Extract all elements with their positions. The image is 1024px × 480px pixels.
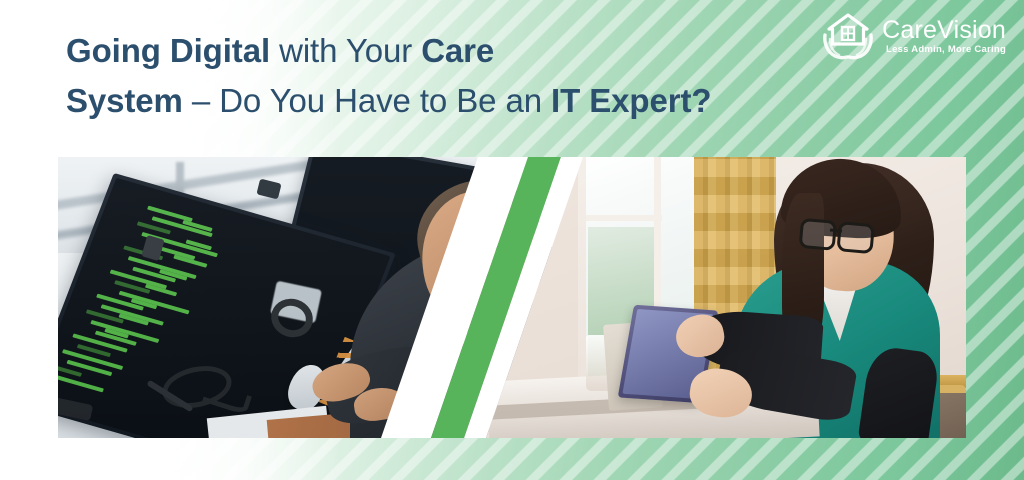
headline-line-1: Going Digital with Your Care [66, 26, 946, 76]
window-crossbar [586, 215, 662, 221]
headline-question-mark: ? [691, 82, 711, 119]
headline-text-do-you-have: – Do You Have to Be an [183, 82, 551, 119]
care-worker-glasses [799, 218, 875, 248]
page-title: Going Digital with Your Care System – Do… [66, 26, 946, 126]
headline-highlight-going-digital: Going Digital [66, 26, 270, 76]
banner: CareVision Less Admin, More Caring Going… [0, 0, 1024, 480]
headline-highlight-system: System [66, 76, 183, 126]
headline-highlight-care: Care [421, 26, 494, 76]
headline-line-2: System – Do You Have to Be an IT Expert? [66, 76, 946, 126]
headline-text-with-your: with Your [270, 32, 421, 69]
headline-highlight-it-expert: IT Expert [551, 76, 691, 126]
photo-band [58, 157, 966, 438]
